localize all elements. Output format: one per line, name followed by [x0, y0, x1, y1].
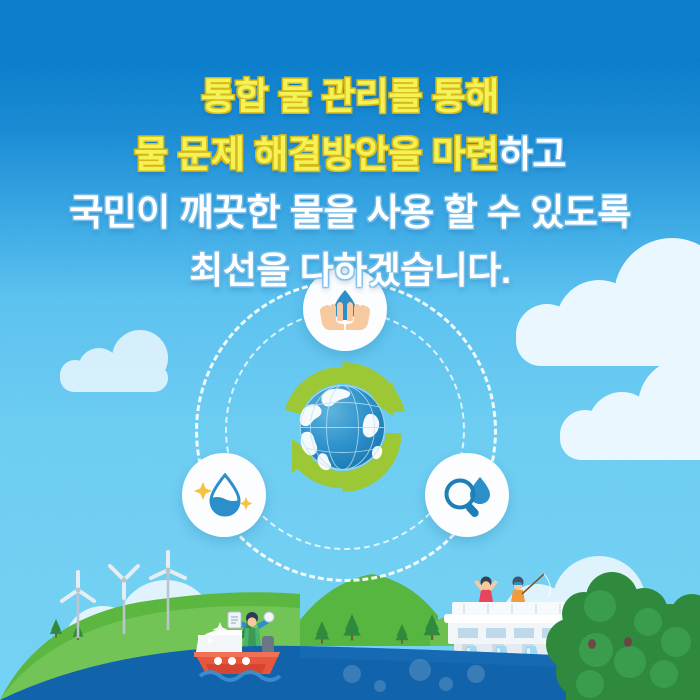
globe-with-cycle-arrows-icon — [265, 350, 420, 505]
water-cycle-diagram — [140, 270, 560, 580]
page-title: 통합 물 관리를 통해 물 문제 해결방안을 마련하고 국민이 깨끗한 물을 사… — [0, 72, 700, 304]
water-management-poster: 통합 물 관리를 통해 물 문제 해결방안을 마련하고 국민이 깨끗한 물을 사… — [0, 0, 700, 700]
clean-water-drop-node[interactable] — [182, 453, 266, 537]
title-line-4-text: 최선을 다하겠습니다. — [189, 250, 510, 291]
tree-cluster — [546, 572, 700, 700]
title-line-2: 물 문제 해결방안을 마련하고 — [0, 130, 700, 188]
title-line-2-tail: 하고 — [499, 134, 566, 175]
title-line-4: 최선을 다하겠습니다. — [0, 246, 700, 304]
dam-person-cheering — [474, 577, 498, 603]
water-cycle-globe — [265, 350, 420, 505]
title-line-1: 통합 물 관리를 통해 — [0, 72, 700, 130]
title-line-3: 국민이 깨끗한 물을 사용 할 수 있도록 — [0, 188, 700, 246]
title-line-3-text: 국민이 깨끗한 물을 사용 할 수 있도록 — [69, 192, 631, 233]
boat-portholes — [214, 657, 250, 665]
water-quality-inspection-node[interactable] — [425, 453, 509, 537]
sample-cup — [264, 612, 274, 622]
magnifier-water-quality-icon — [436, 464, 498, 526]
clean-water-drop-sparkle-icon — [193, 464, 255, 526]
title-line-2-text: 물 문제 해결방안을 마련 — [134, 134, 499, 175]
title-line-1-text: 통합 물 관리를 통해 — [201, 76, 499, 117]
cloud-right-lower — [560, 358, 700, 458]
